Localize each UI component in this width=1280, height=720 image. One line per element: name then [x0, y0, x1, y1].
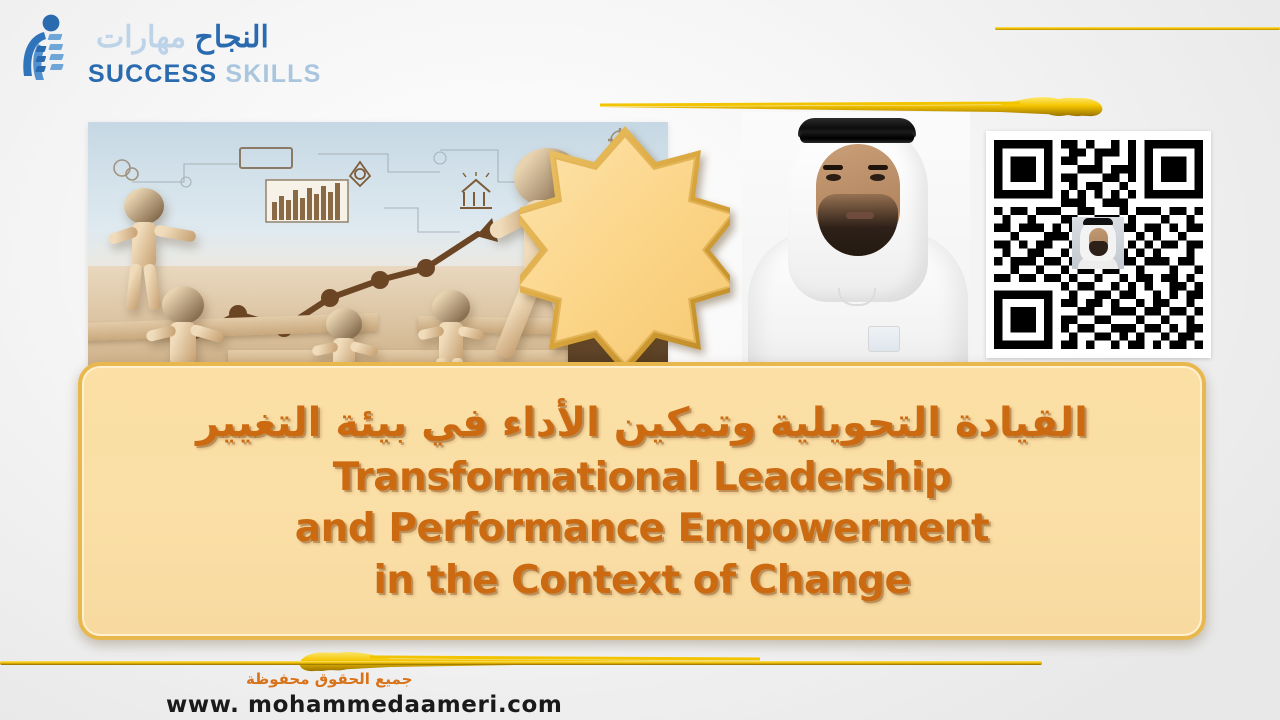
- logo-english-word1: SUCCESS: [88, 60, 217, 88]
- logo-arabic-text: النجاح مهارات: [96, 20, 269, 55]
- title-english-line-1: Transformational Leadership: [333, 452, 952, 503]
- gold-divider-line-bottom: [0, 661, 1042, 665]
- hero-figure-mid-a: [316, 308, 376, 370]
- title-panel: القيادة التحويلية وتمكين الأداء في بيئة …: [78, 362, 1206, 640]
- presenter-eyebrow-left: [823, 165, 843, 170]
- presenter-eye-right: [870, 174, 885, 181]
- title-english-line-3: in the Context of Change: [374, 555, 911, 606]
- hero-figure-mid-b: [420, 290, 482, 370]
- logo-arabic-light: مهارات: [96, 21, 186, 54]
- eight-pointed-star-badge[interactable]: [520, 126, 730, 374]
- brand-logo: النجاح مهارات SUCCESS SKILLS: [18, 12, 258, 102]
- copyright-arabic: جميع الحقوق محفوظة: [246, 670, 412, 688]
- presenter-portrait: [742, 112, 970, 370]
- logo-arabic-dark: النجاح: [194, 21, 268, 54]
- qr-embedded-portrait: [1072, 217, 1124, 269]
- gold-divider-line-top: [995, 27, 1280, 30]
- title-arabic: القيادة التحويلية وتمكين الأداء في بيئة …: [196, 400, 1088, 446]
- presentation-slide: النجاح مهارات SUCCESS SKILLS: [0, 0, 1280, 720]
- logo-english-word2: SKILLS: [225, 60, 321, 88]
- logo-english-text: SUCCESS SKILLS: [88, 60, 322, 89]
- presenter-eyebrow-right: [868, 165, 888, 170]
- website-url[interactable]: www. mohammedaameri.com: [166, 692, 562, 718]
- presenter-pocket: [868, 326, 900, 352]
- qr-code[interactable]: [986, 131, 1211, 358]
- title-english-line-2: and Performance Empowerment: [295, 503, 989, 554]
- presenter-eye-left: [826, 174, 841, 181]
- presenter-mouth: [846, 212, 874, 219]
- presenter-egal-second-band: [800, 132, 914, 143]
- running-person-logo-icon: [18, 14, 80, 88]
